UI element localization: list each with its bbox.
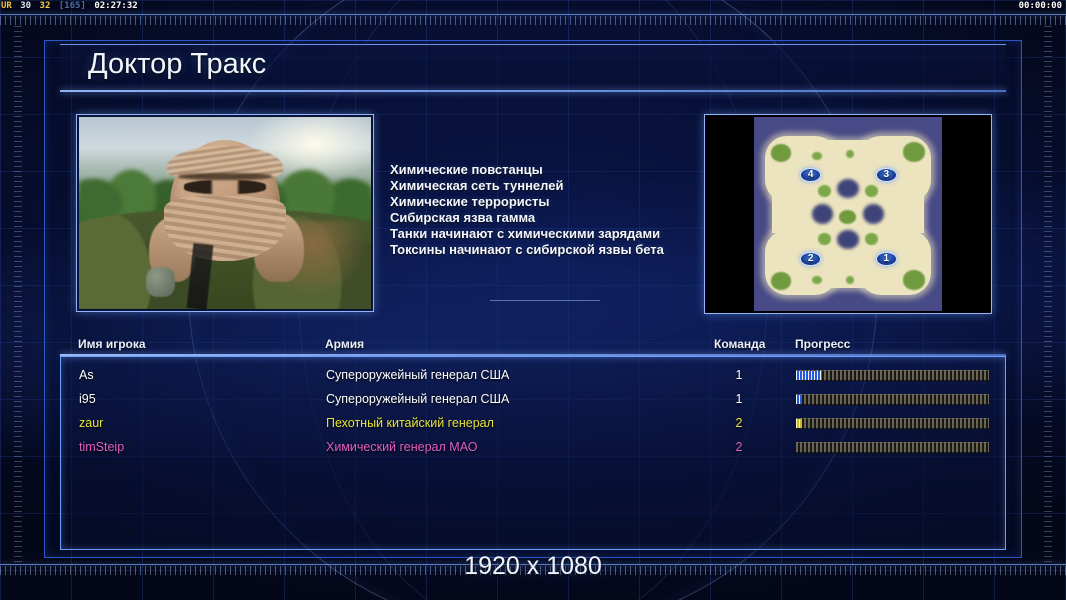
cell-army: Супероружейный генерал США — [326, 368, 509, 382]
minimap-bush-sw — [818, 233, 831, 245]
progress-bar — [796, 442, 989, 453]
description-line: Танки начинают с химическими зарядами — [390, 226, 720, 242]
general-portrait-frame — [76, 114, 374, 312]
cell-army: Пехотный китайский генерал — [326, 416, 494, 430]
description-line: Химические террористы — [390, 194, 720, 210]
description-line: Сибирская язва гамма — [390, 210, 720, 226]
minimap-image: 4 3 2 1 — [707, 117, 989, 311]
title-edge-bottom — [60, 90, 1006, 92]
debug-label: UR — [1, 1, 12, 11]
cell-player-name: As — [79, 368, 94, 382]
debug-value-1: 30 — [20, 1, 31, 11]
table-row[interactable]: timSteip Химический генерал МАО 2 — [61, 437, 1005, 460]
table-row[interactable]: i95 Супероружейный генерал США 1 — [61, 389, 1005, 412]
minimap-pond-e — [863, 204, 884, 223]
progress-bar-fill — [796, 419, 802, 428]
debug-stats-overlay: UR 30 32 [165] 02:27:32 — [1, 1, 141, 11]
minimap-start-position-1[interactable]: 1 — [876, 252, 897, 266]
minimap-prop-3 — [812, 276, 821, 284]
general-description-list: Химические повстанцы Химическая сеть тун… — [390, 162, 720, 258]
portrait-eyes — [184, 180, 266, 193]
description-line: Химические повстанцы — [390, 162, 720, 178]
player-table-body: As Супероружейный генерал США 1 i95 Супе… — [60, 356, 1006, 550]
minimap-bush-nw — [818, 185, 831, 197]
cell-player-name: timSteip — [79, 440, 124, 454]
loading-screen: UR 30 32 [165] 02:27:32 00:00:00 Доктор … — [0, 0, 1066, 600]
minimap-field: 4 3 2 1 — [754, 117, 943, 311]
divider-top — [0, 14, 1066, 15]
ruler-strip-top — [0, 16, 1066, 25]
minimap-bush-center — [839, 210, 856, 224]
minimap-resource-se — [903, 270, 926, 289]
minimap-resource-sw — [771, 272, 792, 289]
column-header-progress: Прогресс — [795, 337, 850, 351]
cell-team: 1 — [724, 392, 754, 406]
minimap-prop-2 — [846, 150, 854, 158]
table-row[interactable]: zaur Пехотный китайский генерал 2 — [61, 413, 1005, 436]
minimap-resource-ne — [903, 142, 926, 161]
progress-bar — [796, 418, 989, 429]
cell-player-name: i95 — [79, 392, 96, 406]
minimap-resource-nw — [771, 144, 792, 161]
column-header-player-name: Имя игрока — [78, 337, 146, 351]
ruler-strip-left — [14, 26, 22, 566]
description-line: Токсины начинают с сибирской язвы бета — [390, 242, 720, 258]
cell-army: Супероружейный генерал США — [326, 392, 509, 406]
ruler-strip-right — [1044, 26, 1052, 566]
page-title: Доктор Тракс — [88, 48, 266, 81]
minimap-terrain: 4 3 2 1 — [754, 117, 943, 311]
progress-bar-fill — [796, 395, 802, 404]
debug-bracket: [165] — [59, 1, 86, 11]
cell-team: 1 — [724, 368, 754, 382]
progress-bar-fill — [796, 371, 821, 380]
debug-timer: 00:00:00 — [1019, 1, 1062, 11]
minimap-frame: 4 3 2 1 — [704, 114, 992, 314]
progress-bar — [796, 370, 989, 381]
minimap-pond-w — [812, 204, 833, 223]
debug-value-2: 32 — [40, 1, 51, 11]
portrait-brow — [178, 173, 271, 181]
cell-army: Химический генерал МАО — [326, 440, 477, 454]
table-row[interactable]: As Супероружейный генерал США 1 — [61, 365, 1005, 388]
resolution-label: 1920 x 1080 — [0, 552, 1066, 581]
minimap-bush-ne — [865, 185, 878, 197]
description-line: Химическая сеть туннелей — [390, 178, 720, 194]
minimap-pond-s — [837, 230, 860, 249]
general-portrait-image — [79, 117, 371, 309]
progress-bar — [796, 394, 989, 405]
portrait-canteen — [146, 267, 175, 298]
column-header-team: Команда — [714, 337, 765, 351]
cell-player-name: zaur — [79, 416, 103, 430]
title-band: Доктор Тракс — [60, 44, 1006, 92]
cell-team: 2 — [724, 440, 754, 454]
description-divider — [490, 300, 600, 301]
cell-team: 2 — [724, 416, 754, 430]
upper-section: Химические повстанцы Химическая сеть тун… — [60, 104, 1006, 326]
player-table-header: Имя игрока Армия Команда Прогресс — [60, 334, 1006, 356]
minimap-start-position-3[interactable]: 3 — [876, 168, 897, 182]
minimap-prop-4 — [846, 276, 854, 284]
minimap-start-position-2[interactable]: 2 — [800, 252, 821, 266]
title-edge-top — [60, 44, 1006, 45]
debug-elapsed-time: 02:27:32 — [94, 1, 137, 11]
minimap-prop-1 — [812, 152, 821, 160]
column-header-army: Армия — [325, 337, 364, 351]
